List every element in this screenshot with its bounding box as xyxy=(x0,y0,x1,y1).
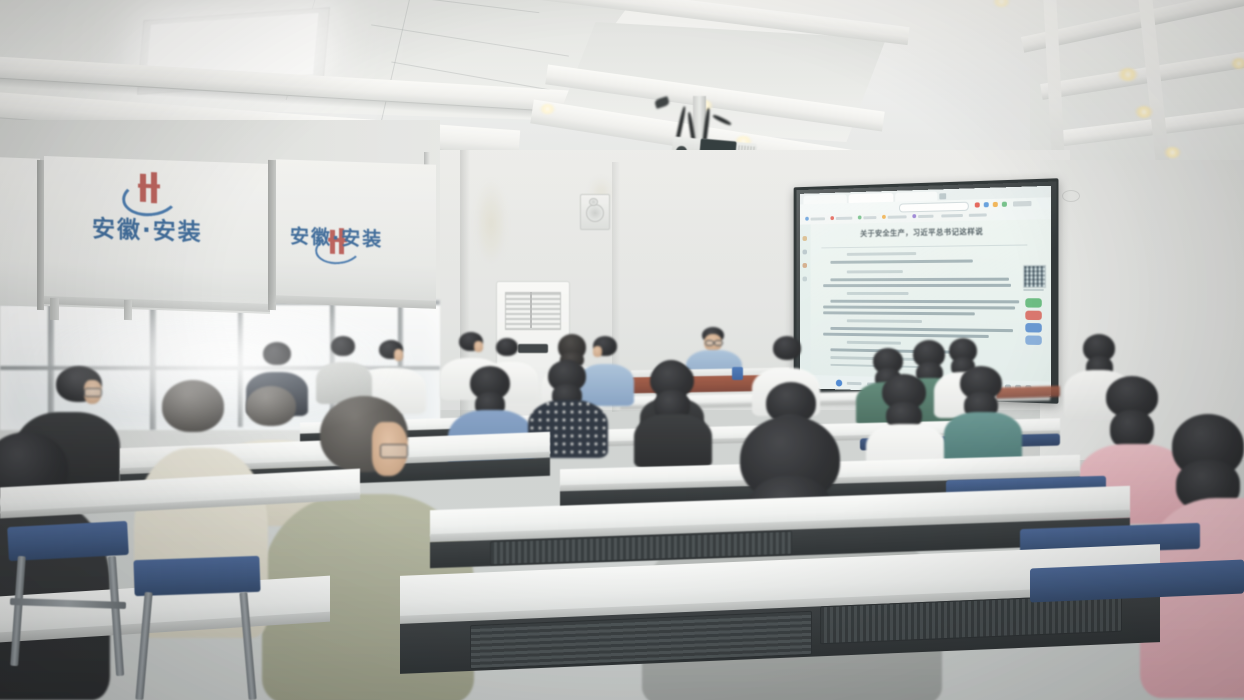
link-share-icon[interactable] xyxy=(1025,323,1042,333)
folding-chair-back[interactable] xyxy=(7,521,129,561)
qr-caption xyxy=(1023,289,1044,291)
toolbar-icon[interactable] xyxy=(975,202,980,207)
bookmark-favicon[interactable] xyxy=(858,215,862,219)
blind-bracket xyxy=(50,298,59,320)
training-room-photo: 安徽·安装 安徽·安装 xyxy=(0,0,1244,700)
ceiling-downlight xyxy=(1164,147,1181,158)
ac-vent-divider xyxy=(530,292,532,328)
bookmark-label[interactable] xyxy=(811,217,825,220)
bookmark-label[interactable] xyxy=(941,214,963,218)
qr-code xyxy=(1023,265,1046,288)
weibo-share-icon[interactable] xyxy=(1025,311,1042,320)
roller-blind-1[interactable] xyxy=(0,157,40,307)
blind-brand-text-left: 安徽·安装 xyxy=(92,209,262,249)
blind-bracket xyxy=(124,300,132,320)
wall-hook xyxy=(1062,190,1080,202)
attendee-head xyxy=(882,374,926,430)
attendee-body xyxy=(634,414,712,468)
bookmark-label[interactable] xyxy=(863,216,876,219)
bookmark-label[interactable] xyxy=(969,213,987,216)
blind-gap xyxy=(37,160,44,310)
attendee-body xyxy=(578,364,634,406)
bookmark-label[interactable] xyxy=(888,215,907,218)
toolbar-icon[interactable] xyxy=(984,202,989,207)
blind-gap xyxy=(268,160,276,310)
rail-icon[interactable] xyxy=(803,263,807,268)
new-tab-button[interactable] xyxy=(939,193,946,199)
article-subheading xyxy=(847,292,909,295)
toolbar-extra[interactable] xyxy=(1013,201,1031,207)
attendee-head xyxy=(1172,414,1244,510)
article-text-line xyxy=(823,284,1011,287)
rail-icon[interactable] xyxy=(803,250,807,255)
bookmark-favicon[interactable] xyxy=(912,214,916,218)
rail-icon[interactable] xyxy=(803,236,807,241)
bottom-action-label[interactable] xyxy=(847,382,862,385)
toolbar-icon[interactable] xyxy=(1002,202,1007,207)
bookmark-label[interactable] xyxy=(836,217,852,220)
rail-icon[interactable] xyxy=(803,277,807,282)
ac-display-panel xyxy=(518,344,548,353)
blue-cup xyxy=(732,367,743,380)
speaker-tweeter xyxy=(589,198,598,206)
speaker-cone xyxy=(586,204,604,222)
folding-chair-back[interactable] xyxy=(133,556,260,596)
ceiling-downlight xyxy=(1231,58,1244,69)
bookmark-label[interactable] xyxy=(918,215,933,218)
toolbar-icon[interactable] xyxy=(993,202,998,207)
attendee-head xyxy=(1106,376,1158,450)
wall-stain xyxy=(474,178,508,268)
blind-brand-text-right: 安徽·安装 xyxy=(290,221,440,253)
more-share-icon[interactable] xyxy=(1025,335,1042,345)
bottom-action-icon[interactable] xyxy=(836,380,842,387)
ceiling-downlight xyxy=(540,104,555,114)
wechat-share-icon[interactable] xyxy=(1025,298,1042,307)
ac-vent-grille xyxy=(505,292,561,330)
ceiling-downlight xyxy=(1135,106,1153,118)
anhui-installation-logo xyxy=(118,171,178,215)
article-subheading xyxy=(847,270,903,273)
ceiling-downlight xyxy=(1118,68,1138,81)
